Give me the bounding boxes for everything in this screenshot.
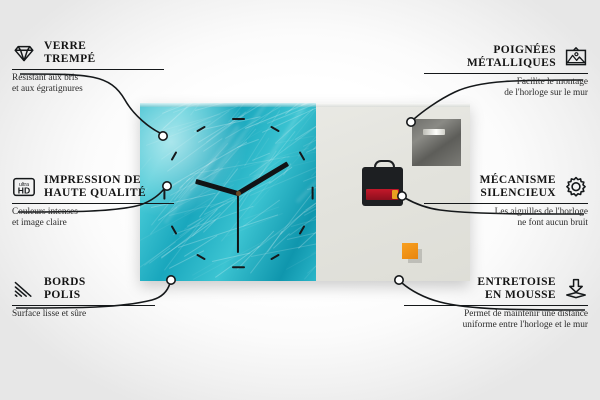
feature-header: ENTRETOISE EN MOUSSE <box>404 276 588 302</box>
feature-subtitle: Les aiguilles de l'horloge ne font aucun… <box>424 207 588 229</box>
mechanism-hanger-loop <box>374 160 395 171</box>
feature-subtitle: Résistant aux bris et aux égratignures <box>12 73 172 95</box>
feature-subtitle: Facilite le montage de l'horloge sur le … <box>424 77 588 99</box>
polished-edges-icon <box>12 277 36 301</box>
clock-center-cap <box>236 191 241 196</box>
picture-hanger-icon <box>564 45 588 69</box>
foam-spacer <box>402 243 418 259</box>
feature-poignees-metalliques: POIGNÉES MÉTALLIQUES Facilite le montage… <box>424 44 588 99</box>
feature-header: BORDS POLIS <box>12 276 162 302</box>
clock-tick <box>232 118 245 120</box>
clock-tick <box>311 186 313 199</box>
feature-subtitle: Permet de maintenir une distance uniform… <box>404 309 588 331</box>
hanger-slot <box>423 129 445 135</box>
ultra-hd-icon: ultra HD <box>12 175 36 199</box>
foam-spacer-icon <box>564 277 588 301</box>
diamond-icon <box>12 41 36 65</box>
feature-header: MÉCANISME SILENCIEUX <box>424 174 588 200</box>
feature-rule <box>424 73 588 74</box>
feature-rule <box>12 203 174 204</box>
feature-verre-trempe: VERRE TREMPÉ Résistant aux bris et aux é… <box>12 40 172 95</box>
clock-tick <box>171 151 178 161</box>
ultra-hd-icon-main-text: HD <box>18 185 30 195</box>
infographic-canvas: VERRE TREMPÉ Résistant aux bris et aux é… <box>0 0 600 400</box>
feature-rule <box>424 203 588 204</box>
clock-tick <box>232 266 245 268</box>
feature-title: MÉCANISME SILENCIEUX <box>480 174 556 200</box>
feature-bords-polis: BORDS POLIS Surface lisse et sûre <box>12 276 162 320</box>
feature-title: ENTRETOISE EN MOUSSE <box>477 276 556 302</box>
feature-entretoise-en-mousse: ENTRETOISE EN MOUSSE Permet de maintenir… <box>404 276 588 331</box>
product-photo <box>140 103 470 281</box>
feature-title: BORDS POLIS <box>44 276 86 302</box>
feature-header: POIGNÉES MÉTALLIQUES <box>424 44 588 70</box>
feature-rule <box>12 305 155 306</box>
battery-terminal <box>392 190 398 199</box>
clock-tick <box>196 254 206 261</box>
feature-header: ultra HD IMPRESSION DE HAUTE QUALITÉ <box>12 174 180 200</box>
feature-rule <box>12 69 164 70</box>
metal-hanger-inset <box>412 119 461 166</box>
feature-impression-haute-qualite: ultra HD IMPRESSION DE HAUTE QUALITÉ Cou… <box>12 174 180 229</box>
feature-subtitle: Couleurs intenses et image claire <box>12 207 180 229</box>
clock-mechanism <box>362 167 403 206</box>
feature-header: VERRE TREMPÉ <box>12 40 172 66</box>
feature-title: IMPRESSION DE HAUTE QUALITÉ <box>44 174 146 200</box>
feature-title: POIGNÉES MÉTALLIQUES <box>467 44 556 70</box>
gear-icon <box>564 175 588 199</box>
panel-top-edge <box>140 103 470 107</box>
battery <box>366 189 399 200</box>
feature-rule <box>404 305 588 306</box>
feature-title: VERRE TREMPÉ <box>44 40 96 66</box>
feature-mecanisme-silencieux: MÉCANISME SILENCIEUX Les aiguilles de l'… <box>424 174 588 229</box>
clock-tick <box>270 254 280 261</box>
feature-subtitle: Surface lisse et sûre <box>12 309 162 320</box>
second-hand <box>237 193 239 253</box>
